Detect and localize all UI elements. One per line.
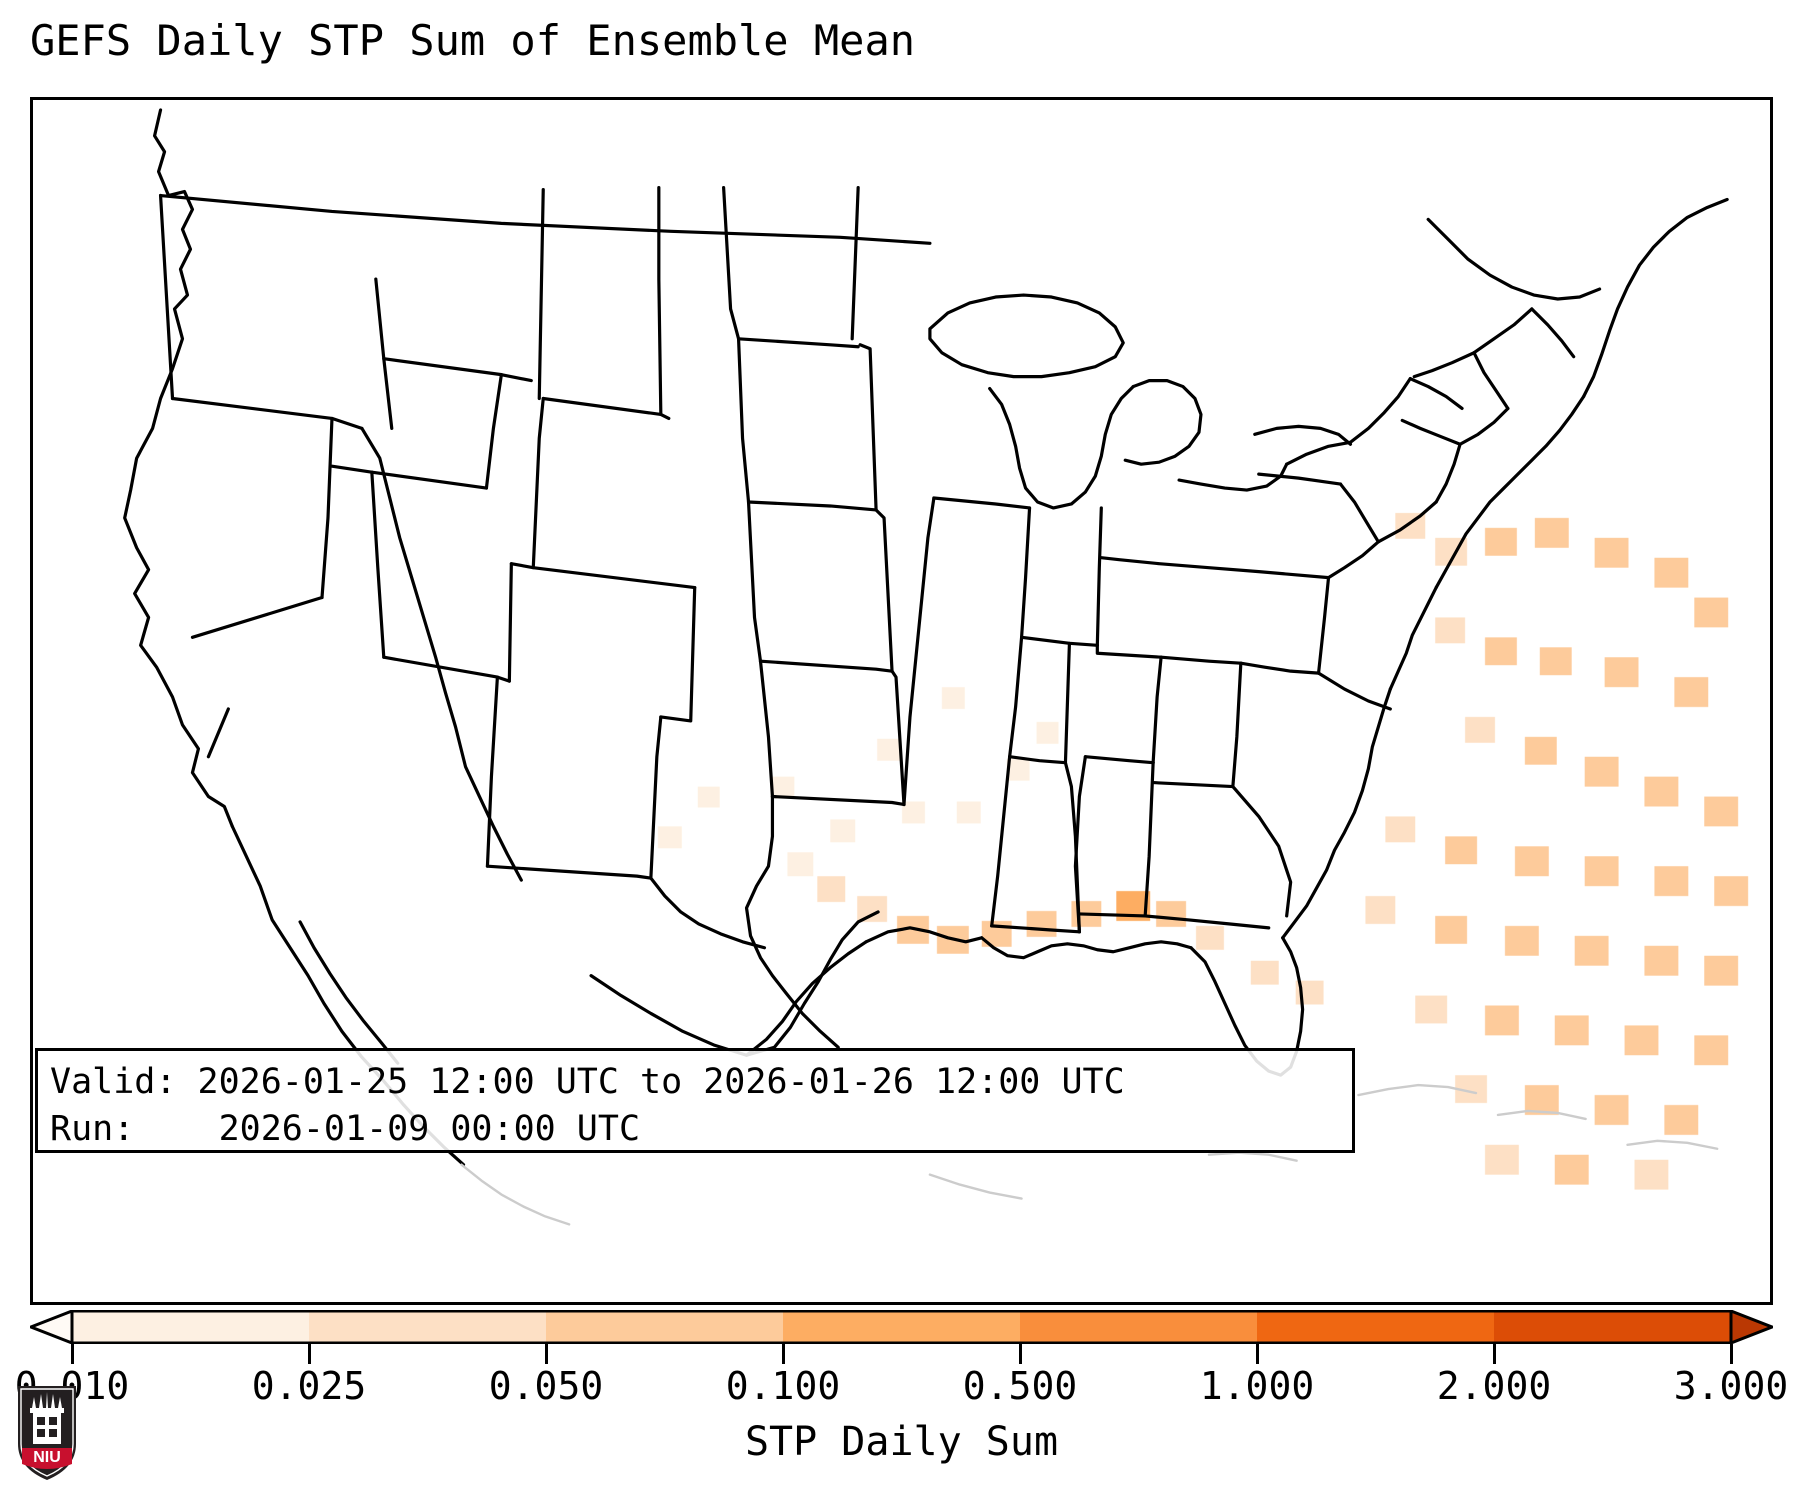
colorbar-tick [1493, 1344, 1496, 1364]
figure-root: GEFS Daily STP Sum of Ensemble Mean Vali… [0, 0, 1803, 1500]
colorbar-tick-label: 0.100 [726, 1364, 840, 1408]
colorbar-tick [545, 1344, 548, 1364]
colorbar-tick [308, 1344, 311, 1364]
colorbar-axis-label: STP Daily Sum [0, 1418, 1803, 1466]
colorbar-gradient [30, 1310, 1773, 1344]
colorbar [30, 1310, 1773, 1356]
colorbar-tick [1019, 1344, 1022, 1364]
colorbar-tick-label: 2.000 [1437, 1364, 1551, 1408]
page-title: GEFS Daily STP Sum of Ensemble Mean [30, 16, 915, 66]
colorbar-tick-label: 0.500 [963, 1364, 1077, 1408]
colorbar-tick [1730, 1344, 1733, 1364]
colorbar-tick-label: 1.000 [1200, 1364, 1314, 1408]
colorbar-tick [1256, 1344, 1259, 1364]
niu-logo-text: NIU [33, 1449, 61, 1466]
run-time-text: Run: 2026-01-09 00:00 UTC [50, 1106, 1352, 1153]
valid-time-text: Valid: 2026-01-25 12:00 UTC to 2026-01-2… [50, 1059, 1352, 1106]
colorbar-tick-label: 0.025 [252, 1364, 366, 1408]
colorbar-ticks [30, 1344, 1773, 1366]
colorbar-tick-label: 3.000 [1674, 1364, 1788, 1408]
valid-run-info-box: Valid: 2026-01-25 12:00 UTC to 2026-01-2… [35, 1048, 1355, 1153]
niu-logo: NIU [16, 1382, 78, 1482]
colorbar-tick [71, 1344, 74, 1364]
colorbar-tick-label: 0.050 [489, 1364, 603, 1408]
colorbar-tick [782, 1344, 785, 1364]
colorbar-tick-labels: 0.0100.0250.0500.1000.5001.0002.0003.000 [30, 1364, 1773, 1408]
